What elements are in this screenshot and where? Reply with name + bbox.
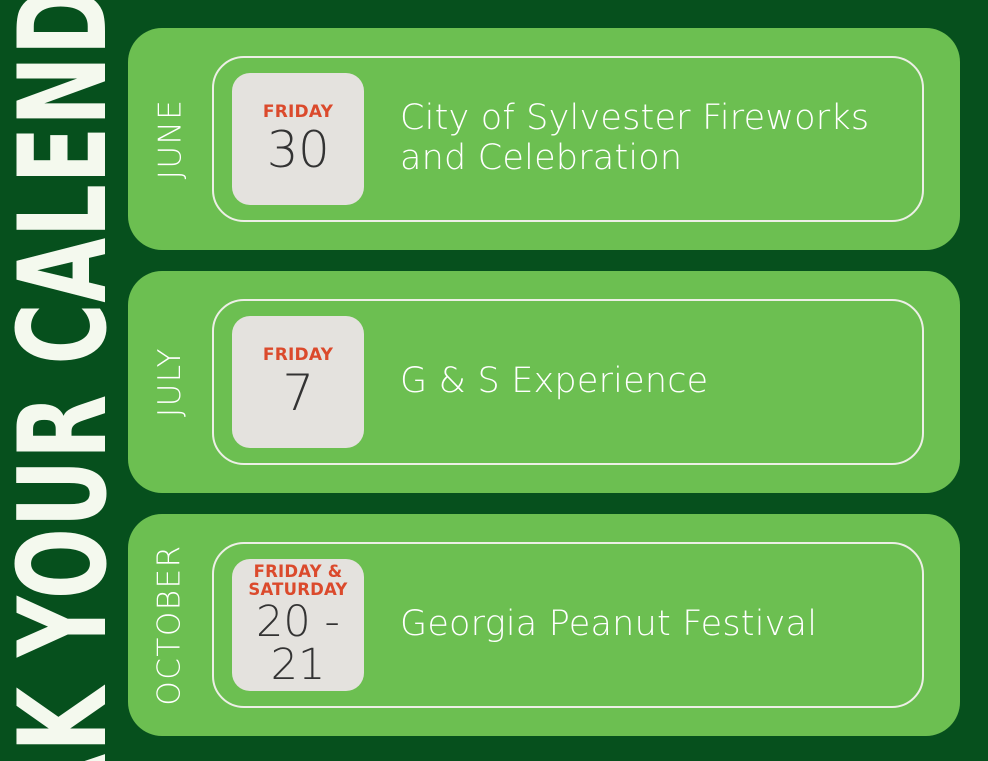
month-label: OCTOBER (128, 514, 212, 736)
calendar-tile: FRIDAY 30 (232, 73, 364, 205)
event-card[interactable]: OCTOBER FRIDAY & SATURDAY 20 - 21 Georgi… (128, 514, 960, 736)
day-of-week-label: FRIDAY (263, 346, 333, 365)
event-title: City of Sylvester Fireworks and Celebrat… (400, 99, 902, 179)
month-label-text: JULY (152, 347, 188, 417)
event-frame: FRIDAY 30 City of Sylvester Fireworks an… (212, 56, 924, 222)
month-label: JUNE (128, 28, 212, 250)
events-list: JUNE FRIDAY 30 City of Sylvester Firewor… (128, 28, 962, 736)
page-title: MARK YOUR CALENDARS (7, 0, 122, 761)
day-of-week-line-1: FRIDAY & (248, 563, 347, 581)
day-of-week-label: FRIDAY (263, 103, 333, 122)
event-title: Georgia Peanut Festival (400, 605, 817, 645)
day-number: 30 (267, 125, 330, 175)
month-label-text: OCTOBER (152, 544, 188, 705)
calendar-tile: FRIDAY & SATURDAY 20 - 21 (232, 559, 364, 691)
month-label-text: JUNE (152, 99, 188, 180)
event-title: G & S Experience (400, 362, 708, 402)
calendar-tile: FRIDAY 7 (232, 316, 364, 448)
month-label: JULY (128, 271, 212, 493)
day-of-week-label: FRIDAY & SATURDAY (248, 563, 347, 600)
event-frame: FRIDAY 7 G & S Experience (212, 299, 924, 465)
event-card[interactable]: JULY FRIDAY 7 G & S Experience (128, 271, 960, 493)
event-card[interactable]: JUNE FRIDAY 30 City of Sylvester Firewor… (128, 28, 960, 250)
day-number: 20 - 21 (232, 601, 364, 687)
headline-rail: MARK YOUR CALENDARS (0, 0, 128, 761)
event-frame: FRIDAY & SATURDAY 20 - 21 Georgia Peanut… (212, 542, 924, 708)
day-number: 7 (282, 368, 313, 418)
